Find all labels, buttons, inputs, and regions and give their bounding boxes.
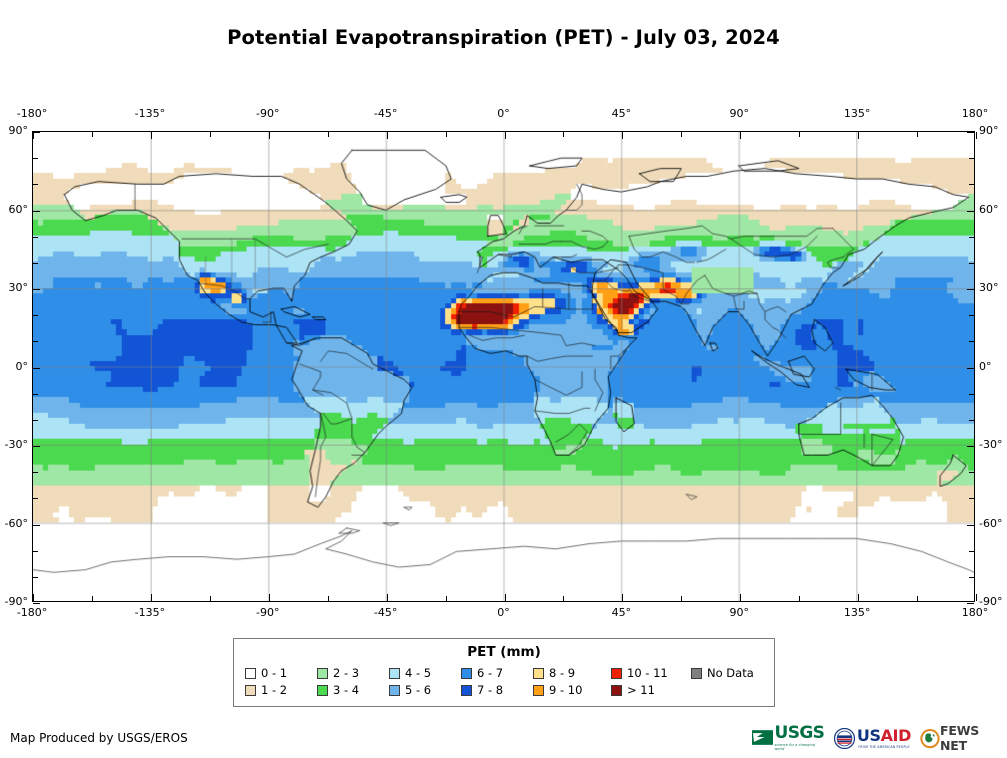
lat-tick-right [969, 263, 974, 264]
usaid-seal-icon [834, 728, 855, 749]
legend-entries: 0 - 11 - 22 - 33 - 44 - 55 - 66 - 77 - 8… [245, 665, 774, 699]
fews-net-wordmark: FEWS NET [940, 723, 1007, 753]
lat-axis-label: 60° [0, 203, 28, 216]
lon-axis-label: 135° [822, 107, 892, 120]
legend-swatch [461, 668, 472, 679]
legend-spacer [691, 682, 771, 699]
lat-tick-left [33, 237, 38, 238]
lat-tick-left [33, 184, 38, 185]
legend-label: 3 - 4 [333, 685, 359, 697]
lat-tick-right [967, 132, 974, 133]
usaid-tagline: FROM THE AMERICAN PEOPLE [858, 745, 909, 749]
lon-axis-label: -135° [115, 107, 185, 120]
lon-tick-top [563, 132, 564, 137]
lat-tick-left [33, 525, 40, 526]
legend-swatch [317, 685, 328, 696]
legend-swatch [461, 685, 472, 696]
lon-axis-label: -90° [233, 606, 303, 619]
map-plot-area[interactable] [32, 131, 975, 602]
fews-globe-icon [920, 728, 940, 749]
legend-label: > 11 [627, 685, 655, 697]
legend-title: PET (mm) [234, 644, 774, 660]
lat-axis-label: 30° [0, 281, 28, 294]
lat-tick-right [967, 525, 974, 526]
legend-swatch [317, 668, 328, 679]
lon-tick-top [917, 132, 918, 137]
lat-tick-right [969, 158, 974, 159]
lon-tick-bottom [328, 596, 329, 601]
lat-tick-left [33, 289, 40, 290]
legend-item: 3 - 4 [317, 682, 389, 699]
lat-tick-right [969, 341, 974, 342]
lat-axis-label: -90° [0, 595, 28, 608]
lon-tick-top [976, 132, 977, 139]
lat-tick-right [969, 315, 974, 316]
usgs-mark-icon [752, 729, 773, 747]
lat-axis-label: 0° [979, 360, 1007, 373]
legend-swatch [611, 668, 622, 679]
lon-tick-top [92, 132, 93, 137]
lat-axis-label: 60° [979, 203, 1007, 216]
legend-swatch [691, 668, 702, 679]
lat-axis-label: -90° [979, 595, 1007, 608]
lon-tick-top [446, 132, 447, 137]
legend-item: 10 - 11 [611, 665, 691, 682]
lat-tick-right [969, 472, 974, 473]
lat-tick-left [33, 446, 40, 447]
lon-tick-top [740, 132, 741, 139]
lat-tick-left [33, 341, 38, 342]
usaid-logo: USAID FROM THE AMERICAN PEOPLE [834, 723, 911, 753]
lat-tick-right [969, 551, 974, 552]
lon-tick-bottom [33, 594, 34, 601]
usgs-logo: USGS science for a changing world [752, 723, 825, 753]
lon-tick-bottom [563, 596, 564, 601]
lon-tick-top [681, 132, 682, 137]
legend-label: 0 - 1 [261, 668, 287, 680]
lon-tick-top [622, 132, 623, 139]
legend-swatch [245, 685, 256, 696]
lon-tick-bottom [505, 594, 506, 601]
lat-tick-left [33, 368, 40, 369]
lat-tick-right [969, 420, 974, 421]
lat-axis-label: -60° [979, 517, 1007, 530]
lon-tick-top [505, 132, 506, 139]
lon-tick-bottom [917, 596, 918, 601]
lat-tick-left [33, 577, 38, 578]
lat-axis-label: -30° [0, 438, 28, 451]
lon-tick-top [799, 132, 800, 137]
lon-tick-bottom [151, 594, 152, 601]
lon-tick-top [33, 132, 34, 139]
lat-tick-right [967, 446, 974, 447]
lat-tick-right [967, 603, 974, 604]
lat-tick-left [33, 603, 40, 604]
legend-item: 7 - 8 [461, 682, 533, 699]
lat-tick-left [33, 420, 38, 421]
lon-axis-label: -45° [351, 107, 421, 120]
lat-tick-right [969, 577, 974, 578]
legend-item: 2 - 3 [317, 665, 389, 682]
lat-tick-right [969, 237, 974, 238]
lat-axis-label: 90° [0, 124, 28, 137]
lon-axis-label: 90° [704, 606, 774, 619]
lon-tick-bottom [269, 594, 270, 601]
lon-tick-bottom [622, 594, 623, 601]
legend-item: > 11 [611, 682, 691, 699]
lat-axis-label: 0° [0, 360, 28, 373]
lon-axis-label: 45° [586, 107, 656, 120]
legend-label: 9 - 10 [549, 685, 582, 697]
lon-axis-label: -135° [115, 606, 185, 619]
usaid-wordmark: USAID [857, 728, 911, 744]
legend-swatch [389, 668, 400, 679]
lat-tick-right [969, 184, 974, 185]
legend-item: 9 - 10 [533, 682, 611, 699]
agency-logos: USGS science for a changing world USAID … [752, 722, 1007, 754]
lat-tick-right [969, 498, 974, 499]
legend-item: 4 - 5 [389, 665, 461, 682]
lat-tick-right [967, 368, 974, 369]
lon-tick-bottom [799, 596, 800, 601]
lat-tick-left [33, 132, 40, 133]
legend-label: 7 - 8 [477, 685, 503, 697]
legend-swatch [533, 668, 544, 679]
legend-label: 2 - 3 [333, 668, 359, 680]
lon-tick-bottom [681, 596, 682, 601]
lon-tick-bottom [740, 594, 741, 601]
lon-axis-label: 135° [822, 606, 892, 619]
lon-tick-top [210, 132, 211, 137]
lat-axis-label: 30° [979, 281, 1007, 294]
legend-label: 6 - 7 [477, 668, 503, 680]
page-title: Potential Evapotranspiration (PET) - Jul… [0, 26, 1007, 49]
lat-tick-left [33, 263, 38, 264]
graticule-layer [33, 132, 974, 601]
legend-label: 5 - 6 [405, 685, 431, 697]
legend-item: 1 - 2 [245, 682, 317, 699]
legend-item: No Data [691, 665, 771, 682]
usgs-wordmark: USGS [774, 725, 824, 742]
legend-item: 6 - 7 [461, 665, 533, 682]
lon-axis-label: 45° [586, 606, 656, 619]
lon-axis-label: 90° [704, 107, 774, 120]
map-credit: Map Produced by USGS/EROS [10, 731, 188, 745]
legend-label: 1 - 2 [261, 685, 287, 697]
lon-tick-bottom [387, 594, 388, 601]
legend-label: 8 - 9 [549, 668, 575, 680]
legend-swatch [533, 685, 544, 696]
lon-tick-top [858, 132, 859, 139]
legend-swatch [245, 668, 256, 679]
lon-tick-bottom [446, 596, 447, 601]
lon-tick-top [269, 132, 270, 139]
lat-axis-label: 90° [979, 124, 1007, 137]
lat-tick-left [33, 315, 38, 316]
lon-tick-bottom [210, 596, 211, 601]
legend-item: 5 - 6 [389, 682, 461, 699]
lon-axis-label: -45° [351, 606, 421, 619]
lon-axis-label: 0° [469, 107, 539, 120]
fews-net-logo: FEWS NET [920, 723, 1007, 753]
legend-label: No Data [707, 668, 754, 680]
lat-tick-left [33, 158, 38, 159]
lon-tick-top [387, 132, 388, 139]
lon-tick-top [328, 132, 329, 137]
legend-label: 4 - 5 [405, 668, 431, 680]
lon-tick-bottom [92, 596, 93, 601]
lon-axis-label: 0° [469, 606, 539, 619]
lat-tick-left [33, 551, 38, 552]
lon-tick-bottom [976, 594, 977, 601]
lon-axis-label: -90° [233, 107, 303, 120]
lon-axis-label: 180° [940, 107, 1007, 120]
lat-tick-right [967, 289, 974, 290]
lat-tick-left [33, 394, 38, 395]
legend-item: 8 - 9 [533, 665, 611, 682]
legend-swatch [389, 685, 400, 696]
usgs-tagline: science for a changing world [774, 743, 824, 751]
lat-axis-label: -60° [0, 517, 28, 530]
lat-tick-right [967, 211, 974, 212]
lat-axis-label: -30° [979, 438, 1007, 451]
legend-item: 0 - 1 [245, 665, 317, 682]
legend-label: 10 - 11 [627, 668, 668, 680]
lat-tick-left [33, 472, 38, 473]
lon-axis-label: -180° [0, 107, 67, 120]
lat-tick-right [969, 394, 974, 395]
legend-swatch [611, 685, 622, 696]
legend-box: PET (mm) 0 - 11 - 22 - 33 - 44 - 55 - 66… [233, 638, 775, 707]
lon-tick-top [151, 132, 152, 139]
lat-tick-left [33, 498, 38, 499]
lat-tick-left [33, 211, 40, 212]
lon-tick-bottom [858, 594, 859, 601]
